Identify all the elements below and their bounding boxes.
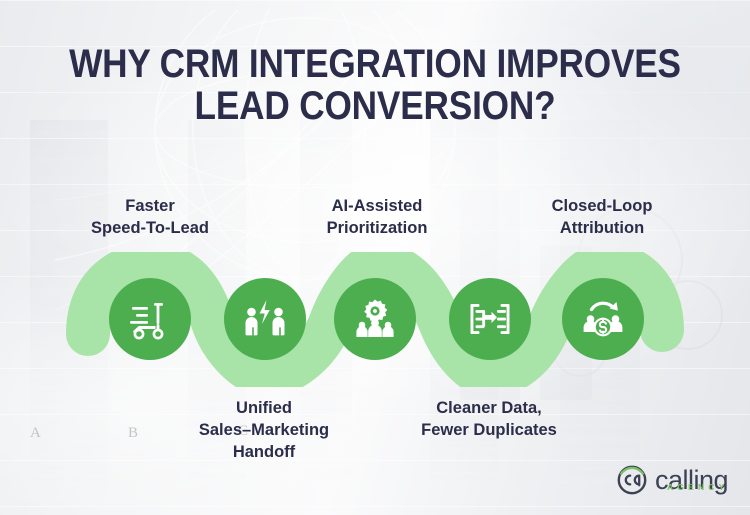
step-circle-4[interactable] xyxy=(449,278,531,360)
background-axis-label-b: B xyxy=(128,425,138,442)
ca-circle-monogram-icon xyxy=(615,463,649,497)
step-label-3: AI-Assisted Prioritization xyxy=(292,196,462,240)
page-title-line-1: WHY CRM INTEGRATION IMPROVES xyxy=(45,44,705,86)
step-label-4: Cleaner Data, Fewer Duplicates xyxy=(403,398,575,442)
people-handoff-bolt-icon xyxy=(242,296,288,342)
background-axis-label-a: A xyxy=(30,425,41,442)
step-label-5: Closed-Loop Attribution xyxy=(517,196,687,240)
brand-logo-text: calling AGENCY xyxy=(655,467,728,494)
step-label-2: Unified Sales–Marketing Handoff xyxy=(178,398,350,464)
brand-logo[interactable]: calling AGENCY xyxy=(615,463,728,497)
data-merge-icon xyxy=(467,296,513,342)
scooter-speed-icon xyxy=(127,296,173,342)
page-title-line-2: LEAD CONVERSION? xyxy=(45,86,705,128)
process-flow xyxy=(0,252,750,387)
step-circle-1[interactable] xyxy=(109,278,191,360)
step-circle-5[interactable] xyxy=(562,278,644,360)
step-circle-2[interactable] xyxy=(224,278,306,360)
step-label-1: Faster Speed-To-Lead xyxy=(65,196,235,240)
gear-team-icon xyxy=(352,296,398,342)
brand-tagline: AGENCY xyxy=(667,483,729,492)
step-circle-3[interactable] xyxy=(334,278,416,360)
roi-return-dollar-icon xyxy=(580,296,626,342)
infographic-canvas: A B C WHY CRM INTEGRATION IMPROVES LEAD … xyxy=(0,0,750,515)
page-title: WHY CRM INTEGRATION IMPROVES LEAD CONVER… xyxy=(45,44,705,127)
